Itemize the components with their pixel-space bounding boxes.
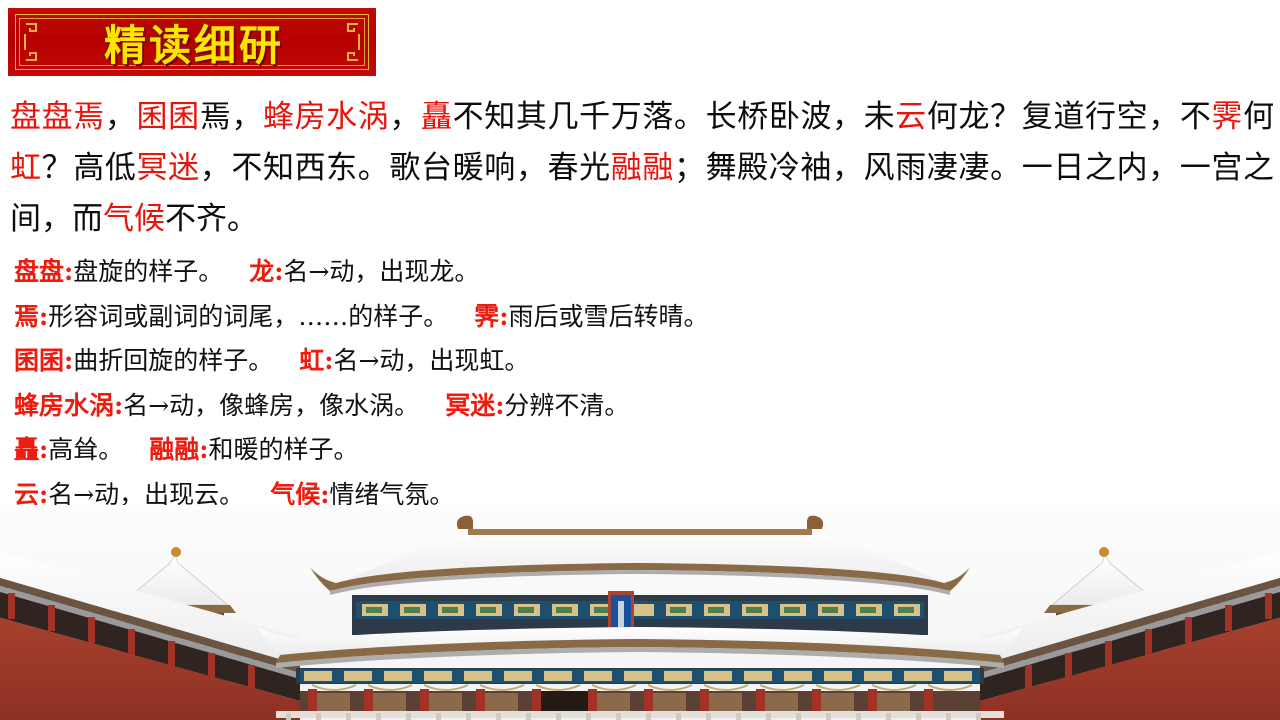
dougong-frieze-lower: [300, 669, 980, 683]
passage-run: ，: [105, 99, 137, 135]
annotation-gloss: 名→动，像蜂房，像水涡。: [123, 391, 419, 420]
passage-keyword: 霁: [1211, 99, 1243, 135]
annotation-list: 盘盘:盘旋的样子。龙:名→动，出现龙。焉:形容词或副词的词尾，……的样子。霁:雨…: [14, 250, 1264, 517]
annotation-term: 霁:: [474, 302, 508, 331]
annotation-term: 龙:: [249, 257, 283, 286]
annotation-term: 盘盘:: [14, 257, 73, 286]
annotation-line: 囷囷:曲折回旋的样子。虹:名→动，出现虹。: [14, 339, 1264, 384]
annotation-gloss: 名→动，出现虹。: [333, 346, 529, 375]
dougong-frieze-upper: [356, 601, 924, 619]
annotation-term: 冥迷:: [445, 391, 504, 420]
annotation-term: 融融:: [149, 435, 208, 464]
passage-run: 焉，: [200, 99, 263, 135]
annotation-term: 焉:: [14, 302, 48, 331]
forbidden-city-palace-hall-photo: [0, 505, 1280, 720]
annotation-line: 焉:形容词或副词的词尾，……的样子。霁:雨后或雪后转晴。: [14, 295, 1264, 340]
left-wing-building: [0, 547, 300, 720]
passage-text: 盘盘焉，囷囷焉，蜂房水涡，矗不知其几千万落。长桥卧波，未云何龙？复道行空，不霁何…: [10, 92, 1274, 245]
passage-keyword: 蜂房水涡: [263, 99, 389, 135]
annotation-gloss: 名→动，出现龙。: [283, 257, 479, 286]
passage-run: ，不知西东。歌台暖响，春光: [200, 150, 611, 186]
annotation-gloss: 高耸。: [48, 435, 123, 464]
annotation-line: 盘盘:盘旋的样子。龙:名→动，出现龙。: [14, 250, 1264, 295]
passage-run: 不知其几千万落。长桥卧波，未: [453, 99, 896, 135]
passage-keyword: 云: [895, 99, 927, 135]
passage-keyword: 融融: [611, 150, 674, 186]
annotation-term: 蜂房水涡:: [14, 391, 123, 420]
passage-keyword: 矗: [421, 99, 453, 135]
marble-balustrade: [276, 711, 1004, 720]
annotation-line: 矗:高耸。融融:和暖的样子。: [14, 428, 1264, 473]
passage-keyword: 盘盘焉: [10, 99, 105, 135]
slide-root: 精读细研 盘盘焉，囷囷焉，蜂房水涡，矗不知其几千万落。长桥卧波，未云何龙？复道行…: [0, 0, 1280, 720]
annotation-gloss: 雨后或雪后转晴。: [508, 302, 708, 331]
right-wing-building: [980, 547, 1280, 720]
passage-keyword: 气候: [103, 201, 165, 237]
passage-keyword: 囷囷: [136, 99, 199, 135]
passage-run: ，: [389, 99, 421, 135]
annotation-term: 矗:: [14, 435, 48, 464]
main-hall-building: [258, 516, 1022, 720]
passage-run: 何龙？复道行空，不: [927, 99, 1212, 135]
annotation-term: 囷囷:: [14, 346, 73, 375]
annotation-gloss: 和暖的样子。: [208, 435, 358, 464]
passage-run: ？高低: [42, 150, 137, 186]
annotation-line: 蜂房水涡:名→动，像蜂房，像水涡。冥迷:分辨不清。: [14, 384, 1264, 429]
annotation-term: 虹:: [299, 346, 333, 375]
passage-keyword: 虹: [10, 150, 42, 186]
annotation-gloss: 形容词或副词的词尾，……的样子。: [48, 302, 448, 331]
annotation-gloss: 曲折回旋的样子。: [73, 346, 273, 375]
passage-run: 何: [1243, 99, 1274, 135]
passage-keyword: 冥迷: [136, 150, 199, 186]
passage-run: 不齐。: [165, 201, 258, 237]
annotation-gloss: 分辨不清。: [504, 391, 629, 420]
title-banner: 精读细研: [8, 8, 376, 76]
annotation-gloss: 盘旋的样子。: [73, 257, 223, 286]
page-title: 精读细研: [8, 8, 376, 76]
